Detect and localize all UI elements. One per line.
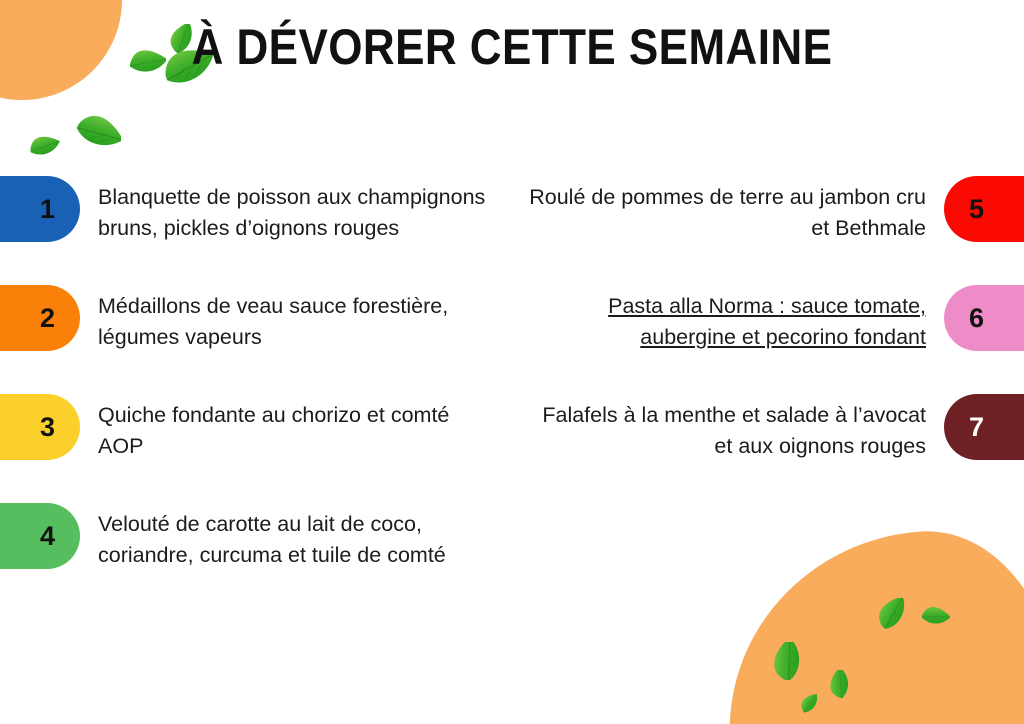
leaf-icon [875,598,911,630]
menu-item-badge: 4 [0,503,80,569]
leaf-icon [920,604,950,630]
leaf-icon [75,112,121,154]
menu-column-left: 1 Blanquette de poisson aux champignons … [0,176,512,612]
menu-item-text: Pasta alla Norma : sauce tomate, aubergi… [526,285,926,353]
page-title: À DÉVORER CETTE SEMAINE [61,18,962,76]
menu-item-number: 6 [969,305,984,332]
menu-item-badge: 3 [0,394,80,460]
menu-item-text: Médaillons de veau sauce forestière, lég… [98,285,498,353]
menu-item[interactable]: 3 Quiche fondante au chorizo et comté AO… [0,394,512,503]
menu-item-text: Velouté de carotte au lait de coco, cori… [98,503,498,571]
leaf-icon [768,642,810,680]
menu-item-number: 5 [969,196,984,223]
orange-blob-decoration [716,523,1024,724]
menu-item[interactable]: Falafels à la menthe et salade à l’avoca… [512,394,1024,503]
menu-item-text: Blanquette de poisson aux champignons br… [98,176,498,244]
menu-item-number: 3 [40,414,55,441]
leaf-icon [798,694,822,714]
menu-item-badge: 7 [944,394,1024,460]
menu-item[interactable]: Roulé de pommes de terre au jambon cru e… [512,176,1024,285]
leaf-icon [28,133,60,161]
menu-column-right: Roulé de pommes de terre au jambon cru e… [512,176,1024,503]
leaf-icon [825,670,857,698]
menu-item[interactable]: 2 Médaillons de veau sauce forestière, l… [0,285,512,394]
menu-item-text: Roulé de pommes de terre au jambon cru e… [526,176,926,244]
menu-item[interactable]: Pasta alla Norma : sauce tomate, aubergi… [512,285,1024,394]
menu-item-number: 1 [40,196,55,223]
menu-item-text: Falafels à la menthe et salade à l’avoca… [526,394,926,462]
menu-item-number: 7 [969,414,984,441]
menu-item[interactable]: 1 Blanquette de poisson aux champignons … [0,176,512,285]
menu-item-text: Quiche fondante au chorizo et comté AOP [98,394,498,462]
menu-item-badge: 6 [944,285,1024,351]
menu-item-badge: 5 [944,176,1024,242]
menu-item-badge: 1 [0,176,80,242]
menu-item-number: 2 [40,305,55,332]
poster-canvas: À DÉVORER CETTE SEMAINE 1 Blanquette de … [0,0,1024,724]
menu-item-badge: 2 [0,285,80,351]
menu-item-number: 4 [40,523,55,550]
menu-item[interactable]: 4 Velouté de carotte au lait de coco, co… [0,503,512,612]
